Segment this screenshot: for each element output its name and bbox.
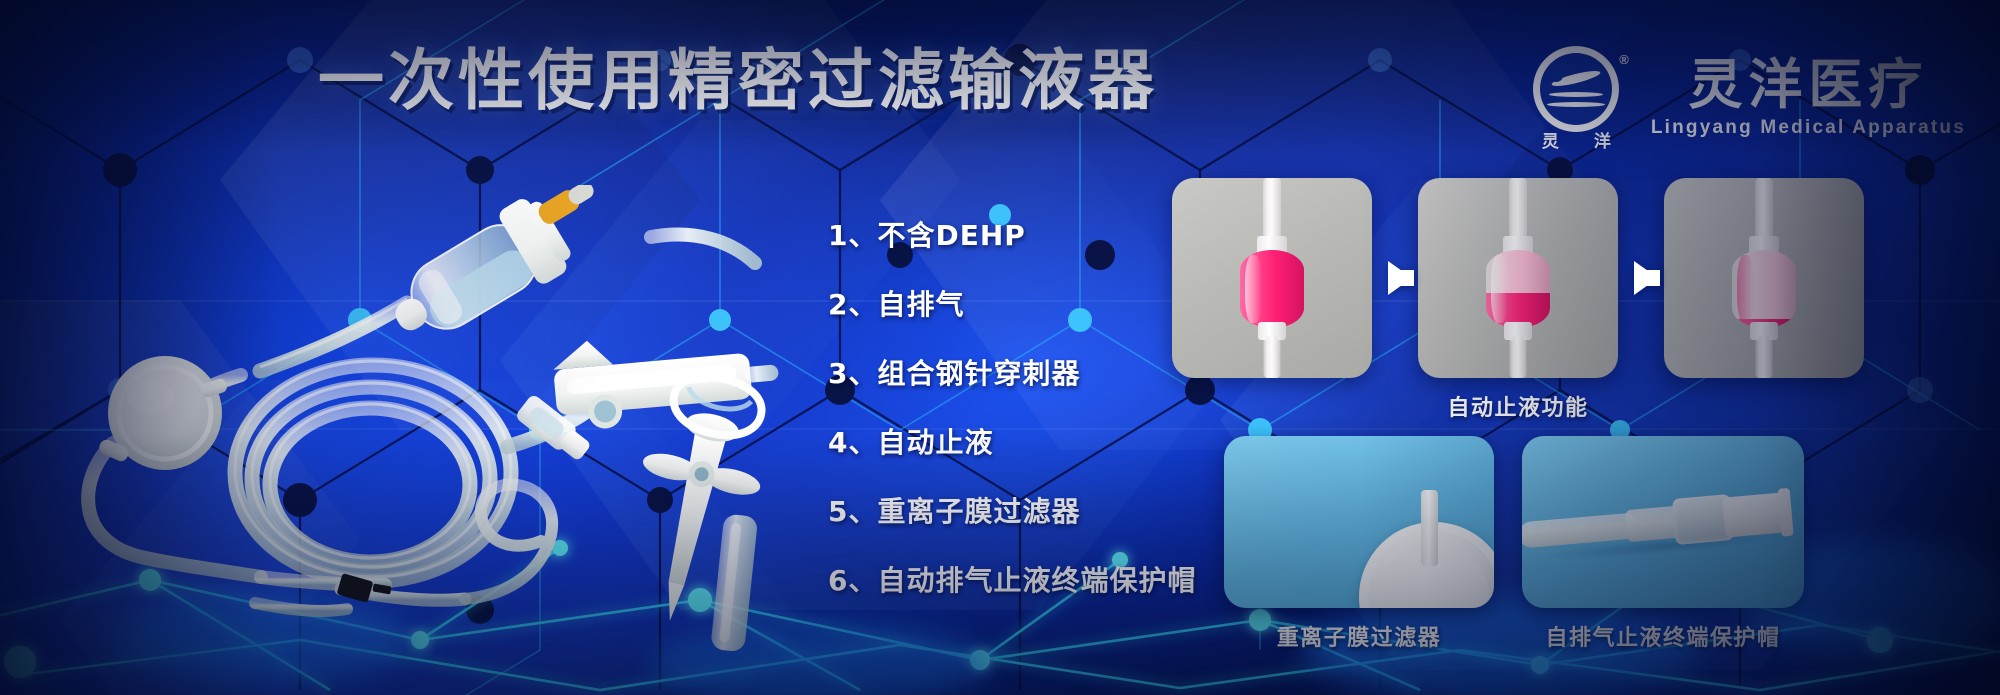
arrow-tail-2 <box>1636 270 1660 286</box>
arrow-tail-1 <box>1390 270 1414 286</box>
arrow-right-icon-1 <box>1388 261 1412 295</box>
product-banner: 一次性使用精密过滤输液器 ® 灵 洋 灵洋医疗 Lingyang Medical… <box>0 0 2000 695</box>
edge-vignette <box>0 0 2000 695</box>
arrow-right-icon-2 <box>1634 261 1658 295</box>
